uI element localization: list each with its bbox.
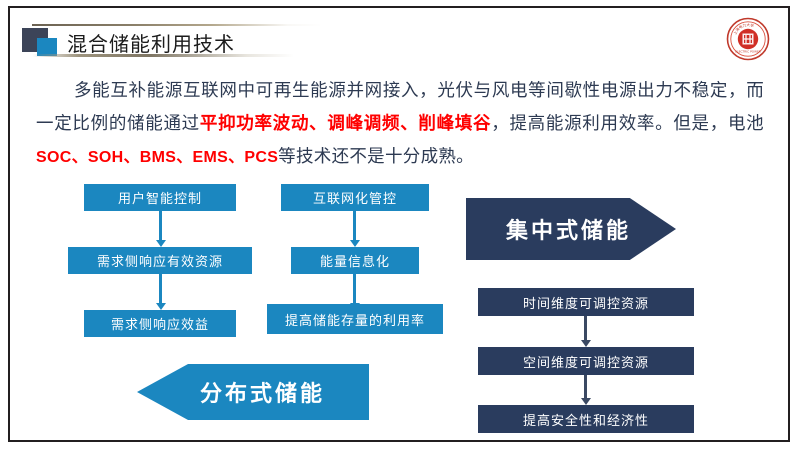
title-rule-top	[32, 24, 322, 26]
arrow-down-icon-left-1	[156, 240, 166, 247]
flow-box-right-1: 时间维度可调控资源	[478, 288, 694, 316]
flow-box-middle-2: 能量信息化	[291, 247, 419, 274]
arrow-down-icon-right-2	[581, 398, 591, 405]
flow-box-right-3: 提高安全性和经济性	[478, 405, 694, 433]
paragraph-segment-2: ，提高能源利用效率。但是，电池	[491, 113, 764, 133]
flow-box-left-1: 用户智能控制	[84, 184, 236, 211]
flow-box-middle-1: 互联网化管控	[281, 184, 429, 211]
arrow-down-icon-right-1	[581, 340, 591, 347]
flow-box-middle-3: 提高储能存量的利用率	[267, 304, 443, 334]
slide-title-bar: 混合储能利用技术	[10, 8, 790, 64]
page-title: 混合储能利用技术	[67, 28, 235, 57]
arrow-down-icon-left-2	[156, 303, 166, 310]
flow-box-left-2: 需求侧响应有效资源	[68, 247, 252, 274]
paragraph-highlight-2: SOC、SOH、BMS、EMS、PCS	[36, 149, 278, 166]
title-rule-bottom	[32, 54, 294, 57]
paragraph-segment-3: 等技术还不是十分成熟。	[278, 146, 474, 166]
arrow-down-icon-middle-1	[350, 240, 360, 247]
body-paragraph: 多能互补能源互联网中可再生能源并网接入，光伏与风电等间歇性电源出力不稳定，而一定…	[36, 74, 764, 174]
slide-canvas: 混合储能利用技术 上海电力大学 ELECTRIC POWER 多能互补能源互联网…	[8, 6, 790, 442]
banner-centralized-storage: 集中式储能	[466, 198, 676, 260]
paragraph-highlight-1: 平抑功率波动、调峰调频、削峰填谷	[200, 113, 491, 133]
university-seal-logo-icon: 上海电力大学 ELECTRIC POWER	[726, 17, 770, 61]
flow-box-right-2: 空间维度可调控资源	[478, 347, 694, 375]
svg-text:ELECTRIC POWER: ELECTRIC POWER	[735, 50, 761, 54]
flow-box-left-3: 需求侧响应效益	[84, 310, 236, 337]
banner-distributed-storage: 分布式储能	[137, 364, 369, 420]
